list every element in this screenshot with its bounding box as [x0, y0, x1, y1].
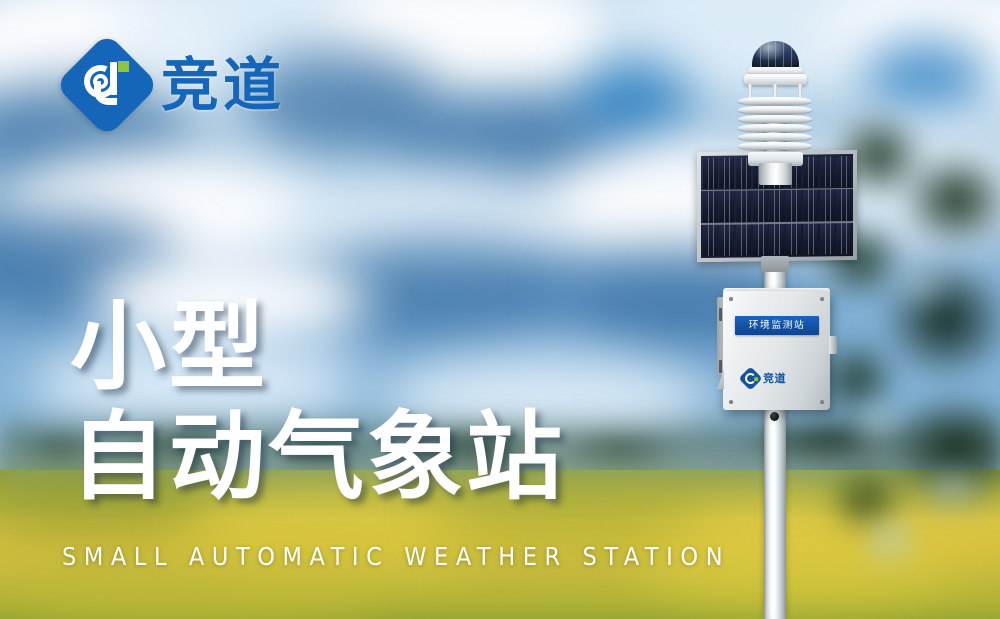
shield-louver	[738, 124, 812, 132]
solar-cell	[803, 223, 818, 255]
pole-bolt	[770, 412, 779, 421]
jingdao-logo-icon	[738, 366, 762, 390]
enclosure-hinge	[719, 360, 722, 373]
solar-cell	[820, 189, 835, 221]
solar-cell	[820, 223, 835, 255]
enclosure-screw	[729, 400, 733, 404]
jingdao-diamond-logo-icon	[55, 33, 160, 138]
solar-cell	[803, 156, 818, 188]
subtitle: SMALL AUTOMATIC WEATHER STATION	[62, 542, 730, 571]
shield-louver	[738, 106, 812, 114]
solar-cell	[719, 157, 734, 189]
solar-cell	[836, 189, 851, 221]
solar-cell	[719, 191, 734, 223]
enclosure-box	[723, 291, 830, 410]
enclosure-banner: 环境监测站	[735, 316, 819, 335]
enclosure-brand-name: 竞道	[763, 370, 786, 386]
solar-cell	[836, 222, 851, 254]
solar-cell	[753, 190, 768, 222]
solar-cell	[719, 224, 734, 256]
shield-louver	[738, 133, 812, 141]
headline-block: 小型 自动气象站	[70, 298, 565, 508]
enclosure-banner-label: 环境监测站	[749, 321, 806, 331]
headline-line-1: 小型	[70, 298, 565, 398]
sensor-neck	[759, 163, 792, 185]
shield-louver	[738, 97, 812, 105]
solar-panel-bracket	[761, 256, 789, 272]
solar-cell	[786, 223, 801, 255]
solar-cell	[736, 224, 751, 256]
solar-cell	[836, 156, 851, 188]
enclosure-brand-logo: 竞道	[742, 368, 814, 388]
solar-cell	[820, 156, 835, 188]
enclosure-hinge	[719, 308, 722, 321]
solar-cell	[703, 191, 718, 223]
radiation-shield	[738, 97, 812, 156]
product-banner: 环境监测站 竞道 竞道 小型 自动气象站 SMALL AUTOMATIC WEA…	[0, 0, 1000, 619]
solar-cell	[769, 190, 784, 222]
solar-cell	[803, 189, 818, 221]
solar-cell	[703, 224, 718, 256]
enclosure-latch	[829, 336, 837, 354]
solar-cell	[786, 190, 801, 222]
solar-cell	[736, 190, 751, 222]
shield-louver	[738, 115, 812, 123]
brand-logo[interactable]: 竞道	[70, 46, 285, 124]
solar-cell	[753, 224, 768, 256]
solar-cell	[769, 223, 784, 255]
headline-line-2: 自动气象站	[70, 408, 565, 508]
shield-louver	[738, 142, 812, 150]
enclosure-screw	[729, 297, 733, 301]
enclosure-screw	[820, 297, 824, 301]
brand-name: 竞道	[161, 56, 285, 114]
enclosure-screw	[820, 400, 824, 404]
solar-cell	[703, 157, 718, 189]
